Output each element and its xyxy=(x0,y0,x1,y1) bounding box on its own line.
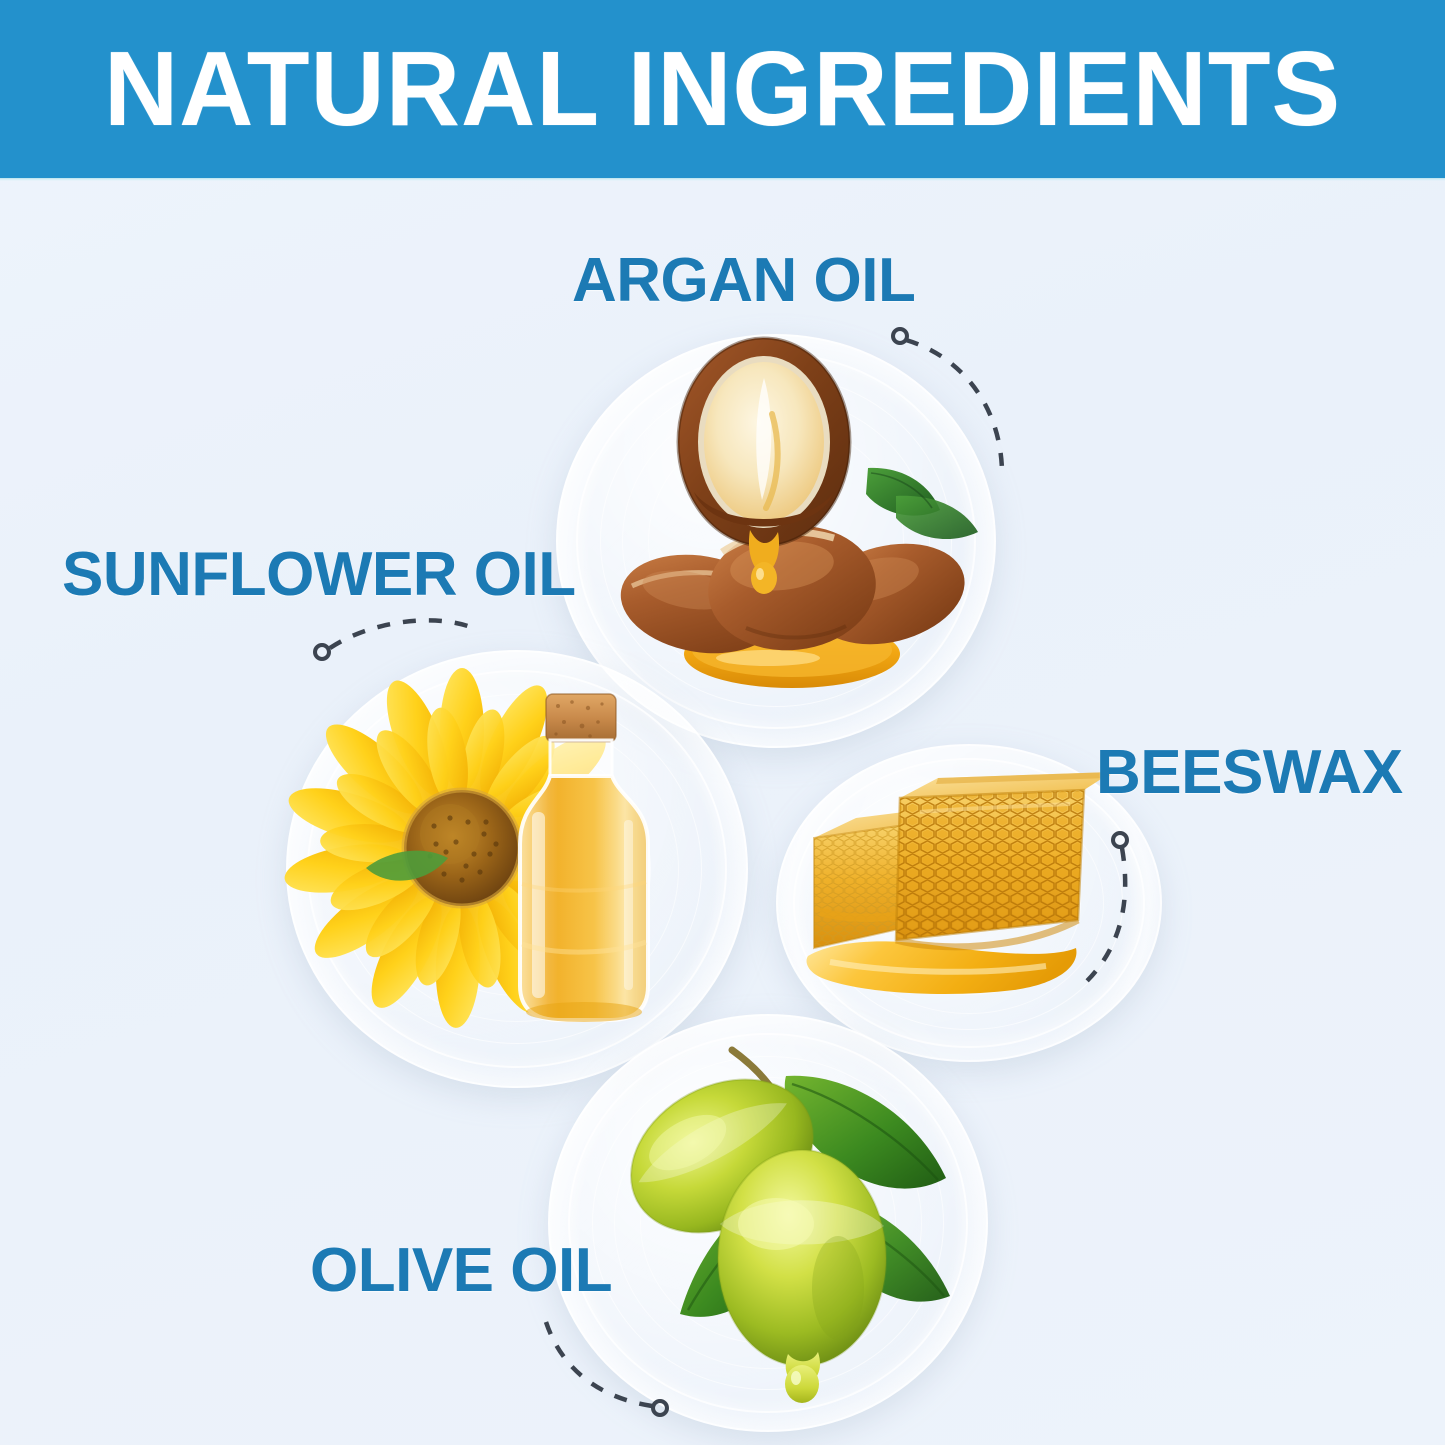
label-olive-oil: OLIVE OIL xyxy=(310,1240,612,1302)
connector-dot xyxy=(315,645,329,659)
sunflower-bottle-icon xyxy=(330,672,706,1056)
honeycomb-icon xyxy=(800,762,1120,1024)
connector-line xyxy=(330,620,478,648)
argan-nuts-icon xyxy=(596,336,996,726)
label-beeswax: BEESWAX xyxy=(1096,742,1403,804)
page-title: NATURAL INGREDIENTS xyxy=(22,0,1424,178)
header-banner: NATURAL INGREDIENTS xyxy=(0,0,1445,178)
label-argan-oil: ARGAN OIL xyxy=(572,250,915,312)
ingredients-infographic: NATURAL INGREDIENTS xyxy=(0,0,1445,1445)
header-underline xyxy=(0,178,1445,181)
label-sunflower-oil: SUNFLOWER OIL xyxy=(62,544,576,606)
olives-icon xyxy=(600,1028,996,1400)
